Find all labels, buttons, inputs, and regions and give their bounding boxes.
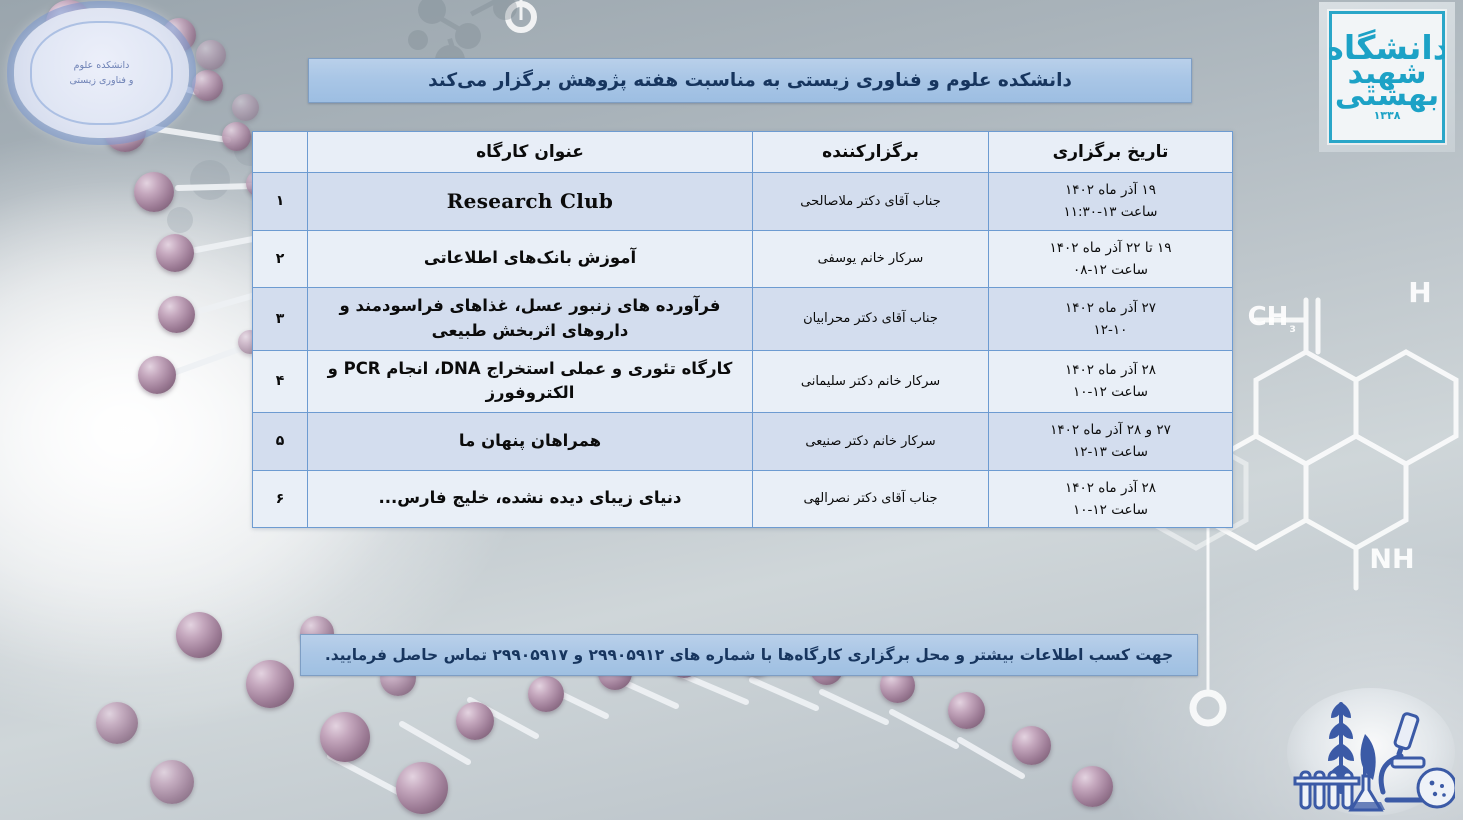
cell-title: دنیای زیبای دیده نشده، خلیج فارس... xyxy=(308,470,753,528)
cell-index: ۴ xyxy=(253,350,308,413)
column-header-index xyxy=(253,132,308,173)
cell-host: جناب آقای دکتر ملاصالحی xyxy=(753,173,989,231)
table-row: ۲۷ و ۲۸ آذر ماه ۱۴۰۲ساعت ۱۳-۱۲سرکار خانم… xyxy=(253,413,1233,471)
cell-date-line-1: ۱۹ تا ۲۲ آذر ماه ۱۴۰۲ xyxy=(997,237,1224,259)
svg-text:NH: NH xyxy=(1369,544,1414,575)
cell-date: ۲۷ آذر ماه ۱۴۰۲۱۲-۱۰ xyxy=(989,288,1233,351)
poster-canvas: CH ₃ H NH xyxy=(0,0,1463,820)
cell-date: ۲۸ آذر ماه ۱۴۰۲ساعت ۱۲-۱۰ xyxy=(989,350,1233,413)
svg-text:H: H xyxy=(1408,276,1431,309)
cell-date-line-1: ۲۷ و ۲۸ آذر ماه ۱۴۰۲ xyxy=(997,419,1224,441)
university-logo: دانشگاه شهید بهشتی ۱۳۳۸ xyxy=(1319,2,1455,152)
cell-date-line-1: ۲۷ آذر ماه ۱۴۰۲ xyxy=(997,297,1224,319)
cell-host: سرکار خانم یوسفی xyxy=(753,230,989,288)
table-row: ۲۷ آذر ماه ۱۴۰۲۱۲-۱۰جناب آقای دکتر محراب… xyxy=(253,288,1233,351)
cell-index: ۳ xyxy=(253,288,308,351)
table-row: ۲۸ آذر ماه ۱۴۰۲ساعت ۱۲-۱۰سرکار خانم دکتر… xyxy=(253,350,1233,413)
cell-date-line-2: ساعت ۱۲-۱۰ xyxy=(997,499,1224,521)
cell-date-line-2: ساعت ۱۳-۱۲ xyxy=(997,441,1224,463)
microscope-plant-labware-icon xyxy=(1287,688,1455,816)
table-header-row: تاریخ برگزاری برگزارکننده عنوان کارگاه xyxy=(253,132,1233,173)
column-header-title: عنوان کارگاه xyxy=(308,132,753,173)
logo-calligraphy: دانشگاه شهید بهشتی ۱۳۳۸ xyxy=(1329,11,1445,143)
cell-index: ۱ xyxy=(253,173,308,231)
footer-banner-text: جهت کسب اطلاعات بیشتر و محل برگزاری کارگ… xyxy=(325,646,1173,664)
cell-date: ۲۸ آذر ماه ۱۴۰۲ساعت ۱۲-۱۰ xyxy=(989,470,1233,528)
table-row: ۱۹ آذر ماه ۱۴۰۲ساعت ۱۳-۱۱:۳۰جناب آقای دک… xyxy=(253,173,1233,231)
cell-index: ۵ xyxy=(253,413,308,471)
cell-title: همراهان پنهان ما xyxy=(308,413,753,471)
table-head: تاریخ برگزاری برگزارکننده عنوان کارگاه xyxy=(253,132,1233,173)
cell-host: جناب آقای دکتر نصرالهی xyxy=(753,470,989,528)
cell-index: ۲ xyxy=(253,230,308,288)
logo-plate: دانشگاه شهید بهشتی ۱۳۳۸ xyxy=(1329,11,1445,143)
table-body: ۱۹ آذر ماه ۱۴۰۲ساعت ۱۳-۱۱:۳۰جناب آقای دک… xyxy=(253,173,1233,528)
cell-date: ۱۹ آذر ماه ۱۴۰۲ساعت ۱۳-۱۱:۳۰ xyxy=(989,173,1233,231)
cell-date-line-1: ۲۸ آذر ماه ۱۴۰۲ xyxy=(997,359,1224,381)
cell-date: ۱۹ تا ۲۲ آذر ماه ۱۴۰۲ساعت ۱۲-۰۸ xyxy=(989,230,1233,288)
header-banner-text: دانشکده علوم و فناوری زیستی به مناسبت هف… xyxy=(428,70,1072,91)
cell-host: سرکار خانم دکتر سلیمانی xyxy=(753,350,989,413)
svg-text:CH: CH xyxy=(1248,302,1289,332)
logo-line-3: بهشتی xyxy=(1335,82,1439,110)
table-row: ۲۸ آذر ماه ۱۴۰۲ساعت ۱۲-۱۰جناب آقای دکتر … xyxy=(253,470,1233,528)
seal-inner: دانشکده علوم و فناوری زیستی xyxy=(30,21,173,125)
workshops-table-wrapper: تاریخ برگزاری برگزارکننده عنوان کارگاه ۱… xyxy=(265,131,1233,528)
cell-title: کارگاه تئوری و عملی استخراج DNA، انجام P… xyxy=(308,350,753,413)
cell-host: جناب آقای دکتر محرابیان xyxy=(753,288,989,351)
cell-date: ۲۷ و ۲۸ آذر ماه ۱۴۰۲ساعت ۱۳-۱۲ xyxy=(989,413,1233,471)
cell-date-line-2: ساعت ۱۲-۰۸ xyxy=(997,259,1224,281)
cell-title: فرآورده های زنبور عسل، غذاهای فراسودمند … xyxy=(308,288,753,351)
column-header-date: تاریخ برگزاری xyxy=(989,132,1233,173)
cell-host: سرکار خانم دکتر صنیعی xyxy=(753,413,989,471)
cell-date-line-2: ساعت ۱۳-۱۱:۳۰ xyxy=(997,201,1224,223)
cell-index: ۶ xyxy=(253,470,308,528)
footer-banner: جهت کسب اطلاعات بیشتر و محل برگزاری کارگ… xyxy=(300,634,1198,676)
column-header-host: برگزارکننده xyxy=(753,132,989,173)
header-banner: دانشکده علوم و فناوری زیستی به مناسبت هف… xyxy=(308,58,1192,103)
cell-title: آموزش بانک‌های اطلاعاتی xyxy=(308,230,753,288)
logo-year: ۱۳۳۸ xyxy=(1374,111,1401,121)
cell-title: Research Club xyxy=(308,173,753,231)
seal-line-2: و فناوری زیستی xyxy=(69,75,133,86)
cell-date-line-1: ۱۹ آذر ماه ۱۴۰۲ xyxy=(997,179,1224,201)
svg-text:₃: ₃ xyxy=(1289,318,1296,336)
table-row: ۱۹ تا ۲۲ آذر ماه ۱۴۰۲ساعت ۱۲-۰۸سرکار خان… xyxy=(253,230,1233,288)
cell-date-line-2: ۱۲-۱۰ xyxy=(997,319,1224,341)
cell-date-line-1: ۲۸ آذر ماه ۱۴۰۲ xyxy=(997,477,1224,499)
workshops-table: تاریخ برگزاری برگزارکننده عنوان کارگاه ۱… xyxy=(252,131,1233,528)
faculty-seal: دانشکده علوم و فناوری زیستی xyxy=(14,8,189,138)
cell-date-line-2: ساعت ۱۲-۱۰ xyxy=(997,381,1224,403)
research-week-emblem xyxy=(1287,688,1455,816)
seal-line-1: دانشکده علوم xyxy=(74,60,130,71)
